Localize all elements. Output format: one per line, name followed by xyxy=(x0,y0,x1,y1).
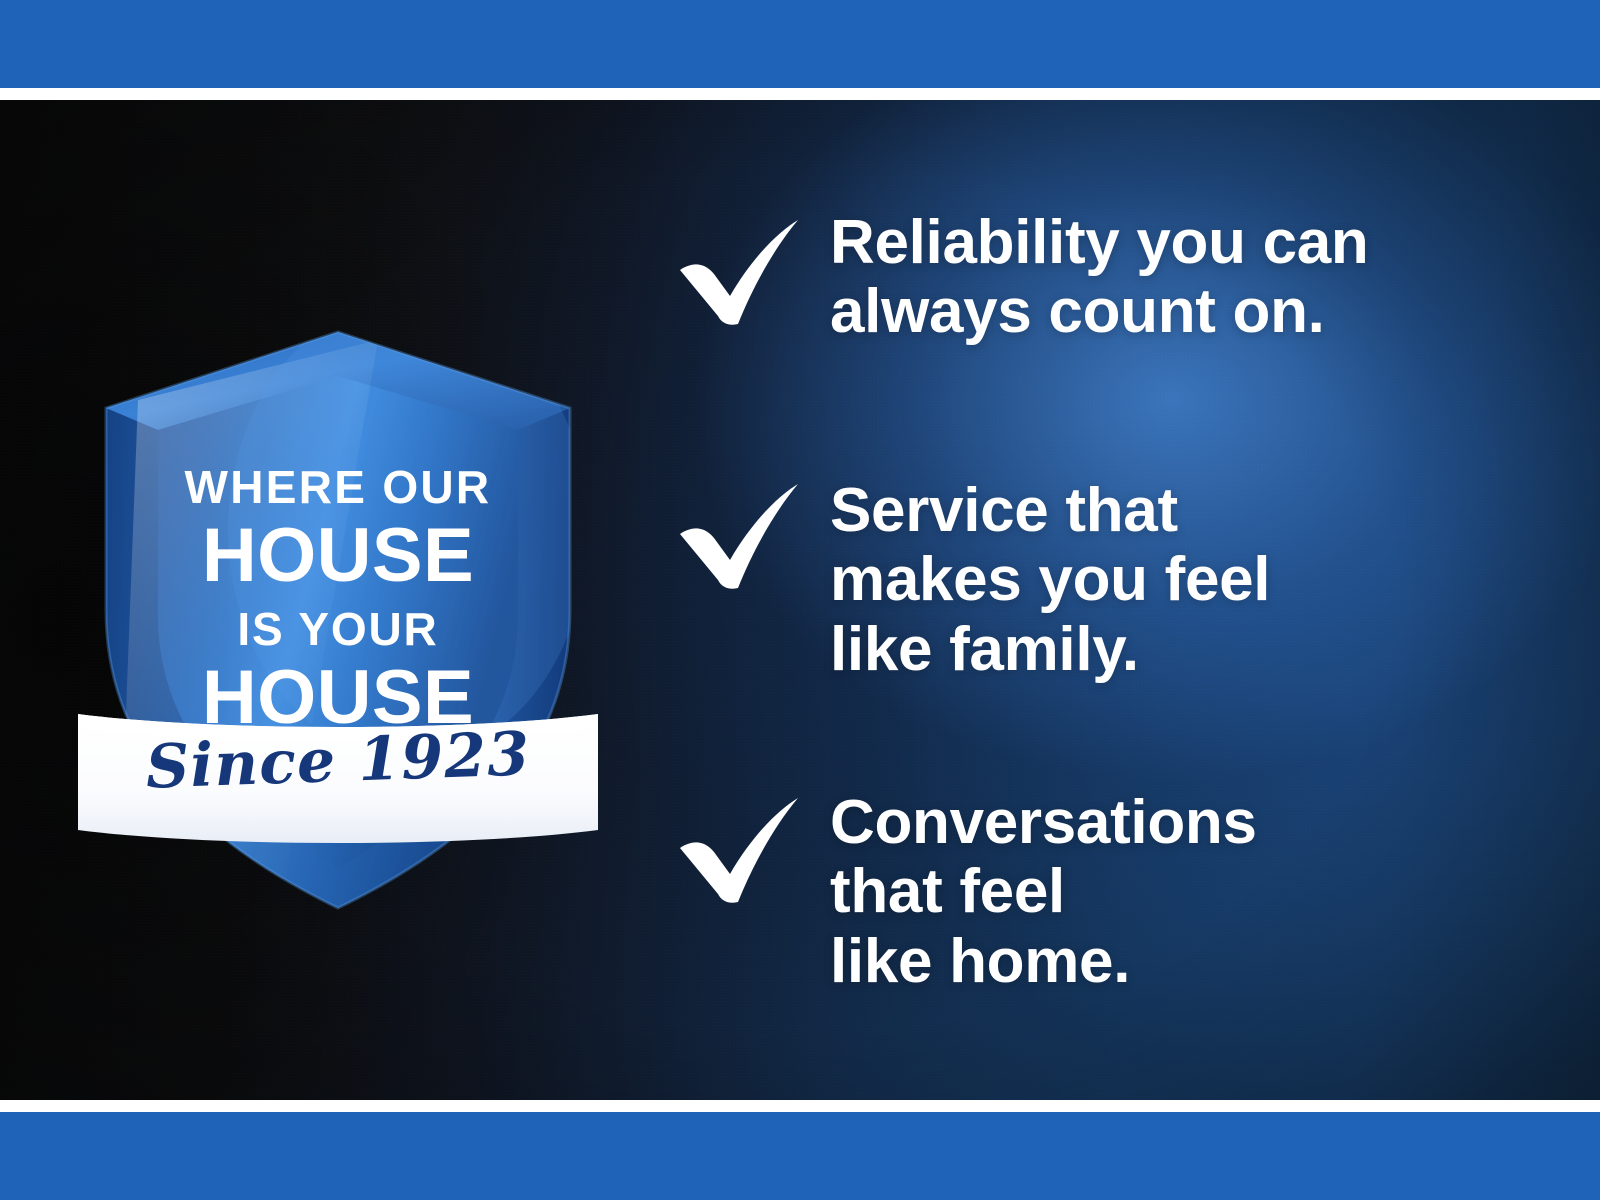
shield-logo: WHERE OUR HOUSE IS YOUR HOUSE Since 1923 xyxy=(78,280,598,920)
benefit-item-3: Conversations that feel like home. xyxy=(672,788,1257,996)
benefit-text-2: Service that makes you feel like family. xyxy=(830,476,1270,684)
benefit-item-2: Service that makes you feel like family. xyxy=(672,476,1270,684)
bottom-brand-bar xyxy=(0,1112,1600,1200)
bottom-white-divider xyxy=(0,1100,1600,1112)
promo-graphic: WHERE OUR HOUSE IS YOUR HOUSE Since 1923… xyxy=(0,0,1600,1200)
benefits-list: Reliability you can always count on. Ser… xyxy=(672,208,1552,1038)
shield-banner-text: Since 1923 xyxy=(62,690,614,831)
check-icon xyxy=(672,796,804,906)
shield-banner: Since 1923 xyxy=(64,700,612,822)
benefit-item-1: Reliability you can always count on. xyxy=(672,208,1369,347)
check-icon xyxy=(672,482,804,592)
benefit-text-3: Conversations that feel like home. xyxy=(830,788,1257,996)
top-brand-bar xyxy=(0,0,1600,88)
benefit-text-1: Reliability you can always count on. xyxy=(830,208,1369,347)
main-canvas: WHERE OUR HOUSE IS YOUR HOUSE Since 1923… xyxy=(0,100,1600,1100)
check-icon xyxy=(672,218,804,328)
top-white-divider xyxy=(0,88,1600,100)
